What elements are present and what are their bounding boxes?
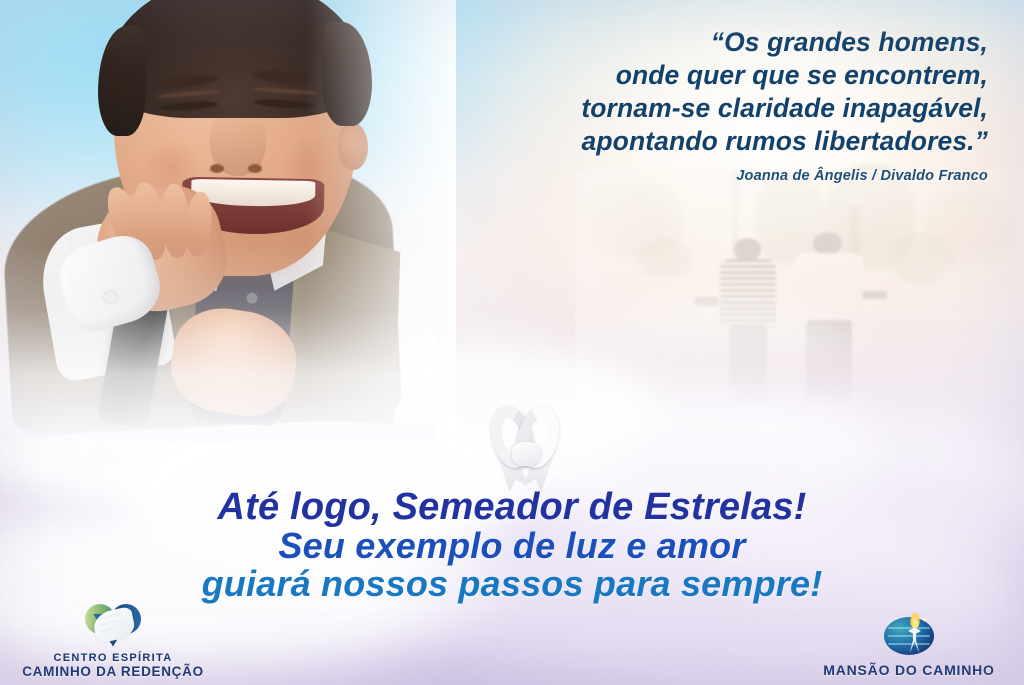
memorial-poster: “Os grandes homens, onde quer que se enc… xyxy=(0,0,1024,685)
logo-left-caption: CENTRO ESPÍRITA CAMINHO DA REDENÇÃO xyxy=(10,652,216,679)
logo-left-line-2: CAMINHO DA REDENÇÃO xyxy=(10,664,216,679)
headline-line-2: Seu exemplo de luz e amor xyxy=(0,527,1024,565)
heart-hands-icon xyxy=(85,602,141,648)
logo-centro-espirita: CENTRO ESPÍRITA CAMINHO DA REDENÇÃO xyxy=(10,602,216,679)
globe-latitude xyxy=(888,627,930,628)
quote-attribution: Joanna de Ângelis / Divaldo Franco xyxy=(288,168,988,184)
quote-line-2: onde quer que se encontrem, xyxy=(288,59,988,92)
globe-latitude xyxy=(888,643,930,644)
headline: Até logo, Semeador de Estrelas! Seu exem… xyxy=(0,487,1024,603)
ribbon-knot xyxy=(512,442,540,466)
quote-text: “Os grandes homens, onde quer que se enc… xyxy=(288,26,988,158)
quote-line-3: tornam-se claridade inapagável, xyxy=(288,92,988,125)
portrait-hair-side xyxy=(98,26,146,136)
quote-line-4: apontando rumos libertadores.” xyxy=(288,125,988,158)
globe-figure-icon xyxy=(882,613,936,659)
portrait-nostril xyxy=(248,164,262,173)
quote-line-1: “Os grandes homens, xyxy=(288,26,988,59)
logo-right-name: MANSÃO DO CAMINHO xyxy=(806,663,1012,679)
globe-latitude xyxy=(888,635,930,636)
logo-left-line-1: CENTRO ESPÍRITA xyxy=(10,652,216,664)
portrait-nostril xyxy=(210,164,224,173)
logo-mansao-do-caminho: MANSÃO DO CAMINHO xyxy=(806,613,1012,679)
headline-line-1: Até logo, Semeador de Estrelas! xyxy=(0,487,1024,527)
flame-icon xyxy=(910,612,920,628)
mourning-ribbon-icon xyxy=(482,406,568,488)
portrait-fade-bottom xyxy=(0,242,436,442)
logo-right-caption: MANSÃO DO CAMINHO xyxy=(806,663,1012,679)
headline-line-3: guiará nossos passos para sempre! xyxy=(0,565,1024,603)
